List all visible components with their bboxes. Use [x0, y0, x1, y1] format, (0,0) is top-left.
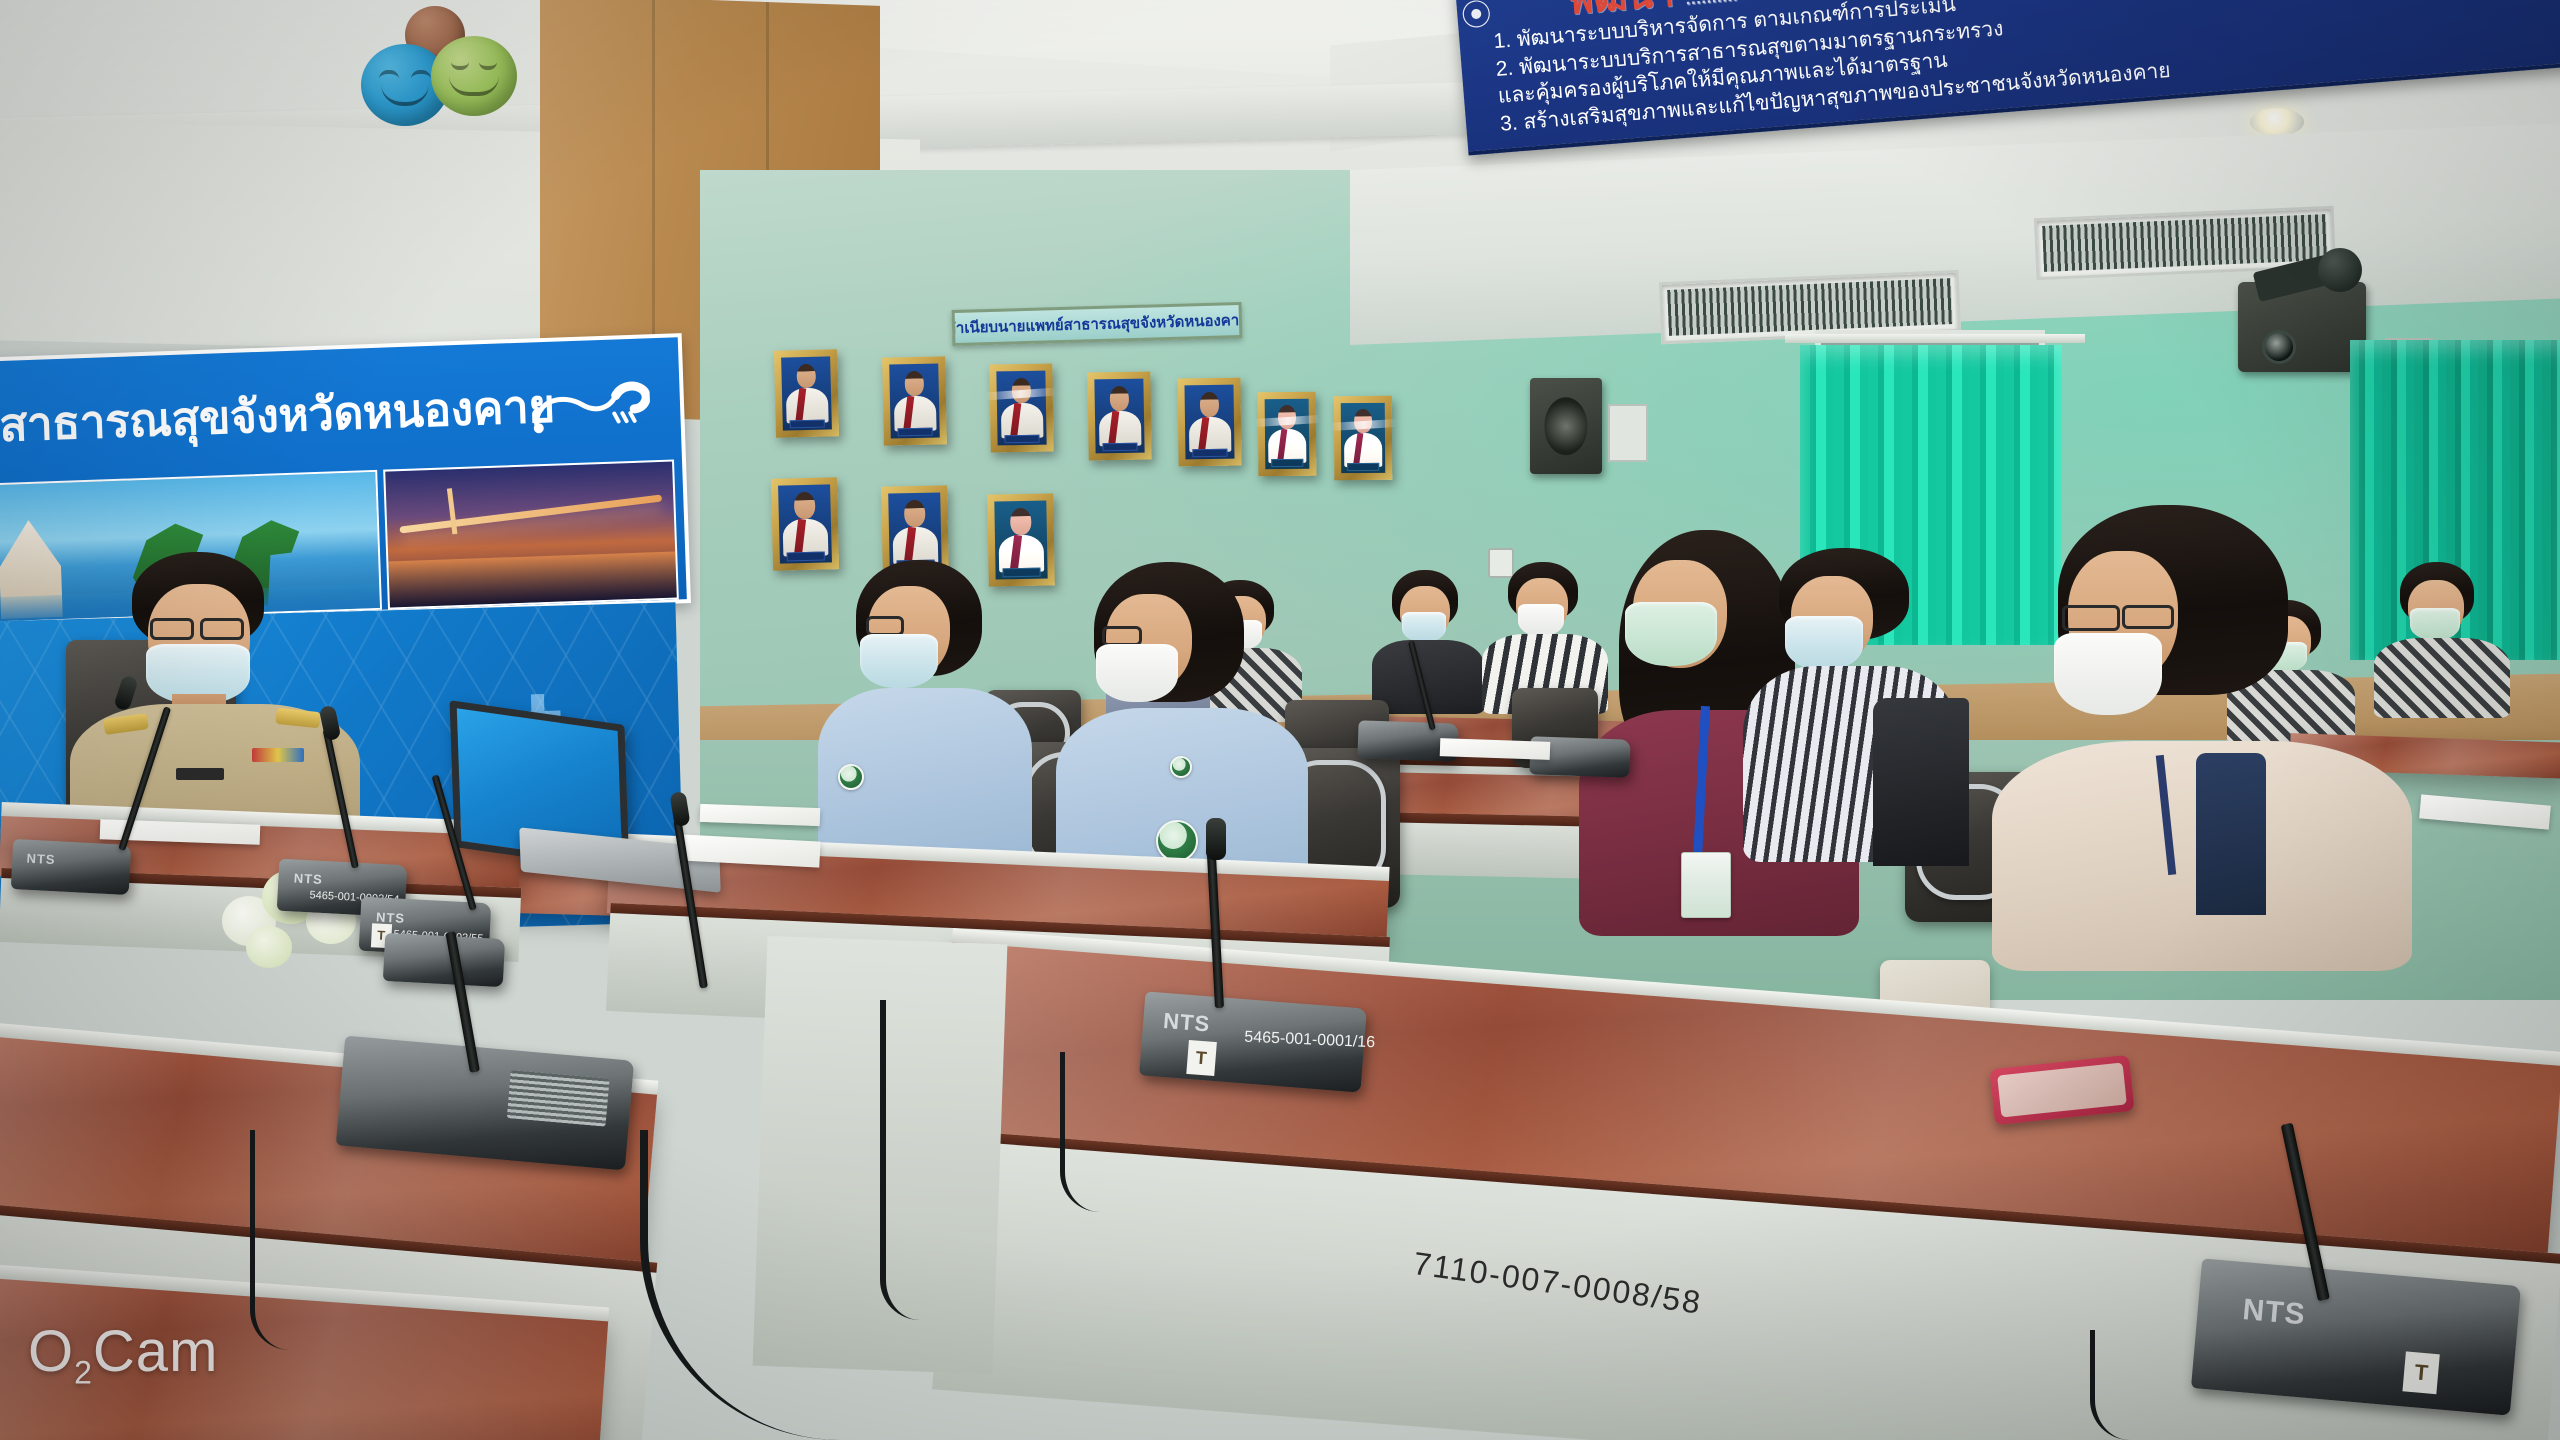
portrait-frame: [1258, 392, 1317, 477]
portrait-frame: [1334, 396, 1393, 480]
eyeglasses: [150, 618, 194, 640]
mic-asset-sticker: T: [1186, 1040, 1217, 1076]
eyeglasses: [200, 618, 244, 640]
person-attendee-lace: [2010, 505, 2390, 965]
watermark-2: 2: [74, 1355, 93, 1391]
moh-emblem-badge: [1156, 820, 1198, 862]
microphone-base[interactable]: NTS: [11, 839, 131, 895]
left-banner-title: นสาธารณสุขจังหวัดหนองคาย: [0, 370, 556, 463]
cable: [880, 1000, 950, 1320]
person-health-officer-1: [830, 560, 1030, 860]
portrait-wall-sign-text: ทำเนียบนายแพทย์สาธารณสุขจังหวัดหนองคาย: [952, 308, 1243, 340]
portrait-frame: [989, 363, 1054, 452]
smiley-ball-decoration: [345, 2, 560, 132]
ribbon-bar: [252, 748, 304, 762]
projector-body: [2238, 282, 2366, 372]
meeting-room-photo: ⦿ พัฒนา .......... 1. พัฒนาระบบบริหารจัด…: [0, 0, 2560, 1440]
portrait-frame: [774, 349, 839, 438]
mic-brand-label: NTS: [2241, 1293, 2307, 1332]
microphone-base[interactable]: NTS 5465-001-0001/16 T: [1139, 991, 1367, 1092]
projector-lens: [2262, 330, 2296, 364]
desk-asset-tag: 7110-007-0008/58: [1411, 1245, 1705, 1322]
mic-brand-label: NTS: [26, 851, 56, 867]
microphone-base[interactable]: [383, 933, 505, 987]
face-mask: [1096, 644, 1178, 702]
banner-dots: ..........: [1685, 0, 1739, 9]
person-attendee-far-right: [2380, 562, 2500, 712]
face-mask: [1625, 602, 1717, 666]
wall-control-box[interactable]: [1608, 404, 1648, 462]
navy-collar: [2196, 753, 2266, 915]
naga-swirl-icon: [529, 376, 651, 436]
app-watermark: O2Cam: [28, 1318, 218, 1392]
wall-speaker: [1530, 378, 1602, 474]
portrait-frame: [771, 477, 839, 571]
collar-pin: [1170, 756, 1192, 778]
face-mask: [860, 634, 938, 688]
id-badge: [1681, 852, 1731, 918]
watermark-cam: Cam: [93, 1319, 218, 1384]
person-health-officer-2: [1070, 562, 1300, 892]
cable: [640, 1130, 860, 1440]
eyeglasses: [866, 616, 904, 636]
microphone-cable: [2090, 1330, 2210, 1440]
face-mask: [2054, 633, 2162, 715]
name-tag: [176, 768, 224, 780]
eyeglasses: [1102, 626, 1142, 646]
mic-brand-label: NTS: [1162, 1008, 1211, 1038]
dark-jacket: [1873, 698, 1969, 866]
watermark-o: O: [28, 1319, 74, 1384]
microphone-cable: [1060, 1052, 1150, 1212]
ceiling-light: [2250, 108, 2304, 136]
mic-brand-label: NTS: [293, 871, 323, 887]
moh-emblem-badge: [838, 764, 864, 790]
eyeglasses: [2122, 605, 2174, 629]
smiley-ball-green: [431, 36, 517, 116]
mic-serial-label: 5465-001-0001/16: [1244, 1028, 1375, 1052]
banner-photo-bridge: [383, 459, 679, 609]
documents[interactable]: [1440, 738, 1551, 760]
eyeglasses: [2062, 605, 2120, 631]
portrait-frame: [1087, 371, 1152, 460]
microphone-base[interactable]: NTS T: [2191, 1258, 2521, 1415]
mic-asset-sticker: T: [2403, 1352, 2440, 1395]
face-mask: [1785, 616, 1863, 670]
microphone-cable: [250, 1130, 370, 1350]
microphone-head: [1206, 818, 1226, 860]
mic-vent-grill: [507, 1070, 609, 1127]
projector-mount-ball: [2318, 248, 2362, 292]
curtain-rail: [1785, 334, 2085, 343]
banner-swirl-icon: ⦿: [1459, 0, 1492, 36]
person-attendee-young-male: [1755, 548, 1955, 868]
portrait-frame: [1177, 378, 1241, 467]
portrait-frame: [882, 356, 947, 445]
